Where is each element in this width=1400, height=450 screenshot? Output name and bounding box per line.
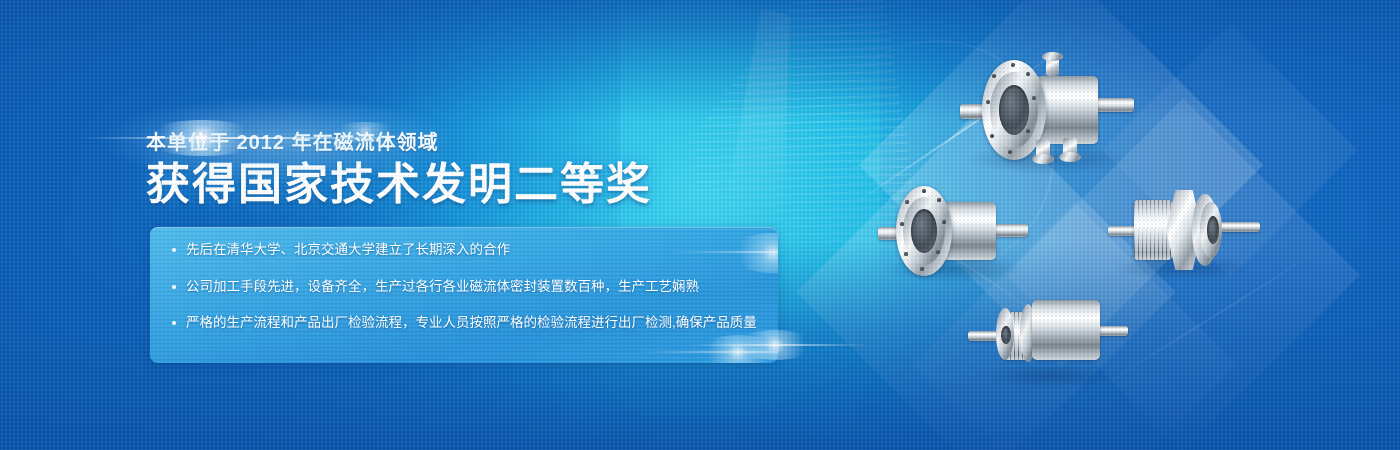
list-item: 公司加工手段先进，设备齐全，生产过各行各业磁流体密封装置数百种，生产工艺娴熟 — [170, 280, 778, 294]
bullet-dot-icon — [172, 285, 176, 289]
highlights-panel: 先后在清华大学、北京交通大学建立了长期深入的合作 公司加工手段先进，设备齐全，生… — [150, 227, 778, 363]
list-item: 先后在清华大学、北京交通大学建立了长期深入的合作 — [170, 243, 778, 257]
product-image-compact-seal — [968, 292, 1128, 392]
list-item-text: 公司加工手段先进，设备齐全，生产过各行各业磁流体密封装置数百种，生产工艺娴熟 — [186, 279, 699, 294]
promo-banner: 本单位于 2012 年在磁流体领域 获得国家技术发明二等奖 先后在清华大学、北京… — [0, 0, 1400, 450]
product-image-threaded-seal — [1108, 182, 1258, 282]
bullet-dot-icon — [172, 248, 176, 252]
background-top-vignette — [0, 0, 1400, 120]
banner-subtitle: 本单位于 2012 年在磁流体领域 — [146, 126, 906, 155]
product-image-flange-seal — [960, 52, 1135, 177]
panel-flare-bottom — [698, 335, 778, 363]
list-item-text: 先后在清华大学、北京交通大学建立了长期深入的合作 — [186, 242, 510, 257]
list-item: 严格的生产流程和产品出厂检验流程，专业人员按照严格的检验流程进行出厂检测,确保产… — [170, 316, 778, 330]
panel-flare-bar-bottom — [640, 351, 778, 353]
highlights-list: 先后在清华大学、北京交通大学建立了长期深入的合作 公司加工手段先进，设备齐全，生… — [150, 227, 778, 330]
bullet-dot-icon — [172, 321, 176, 325]
banner-headline: 获得国家技术发明二等奖 — [146, 161, 906, 209]
list-item-text: 严格的生产流程和产品出厂检验流程，专业人员按照严格的检验流程进行出厂检测,确保产… — [186, 315, 757, 330]
headline-block: 本单位于 2012 年在磁流体领域 获得国家技术发明二等奖 — [146, 126, 906, 209]
